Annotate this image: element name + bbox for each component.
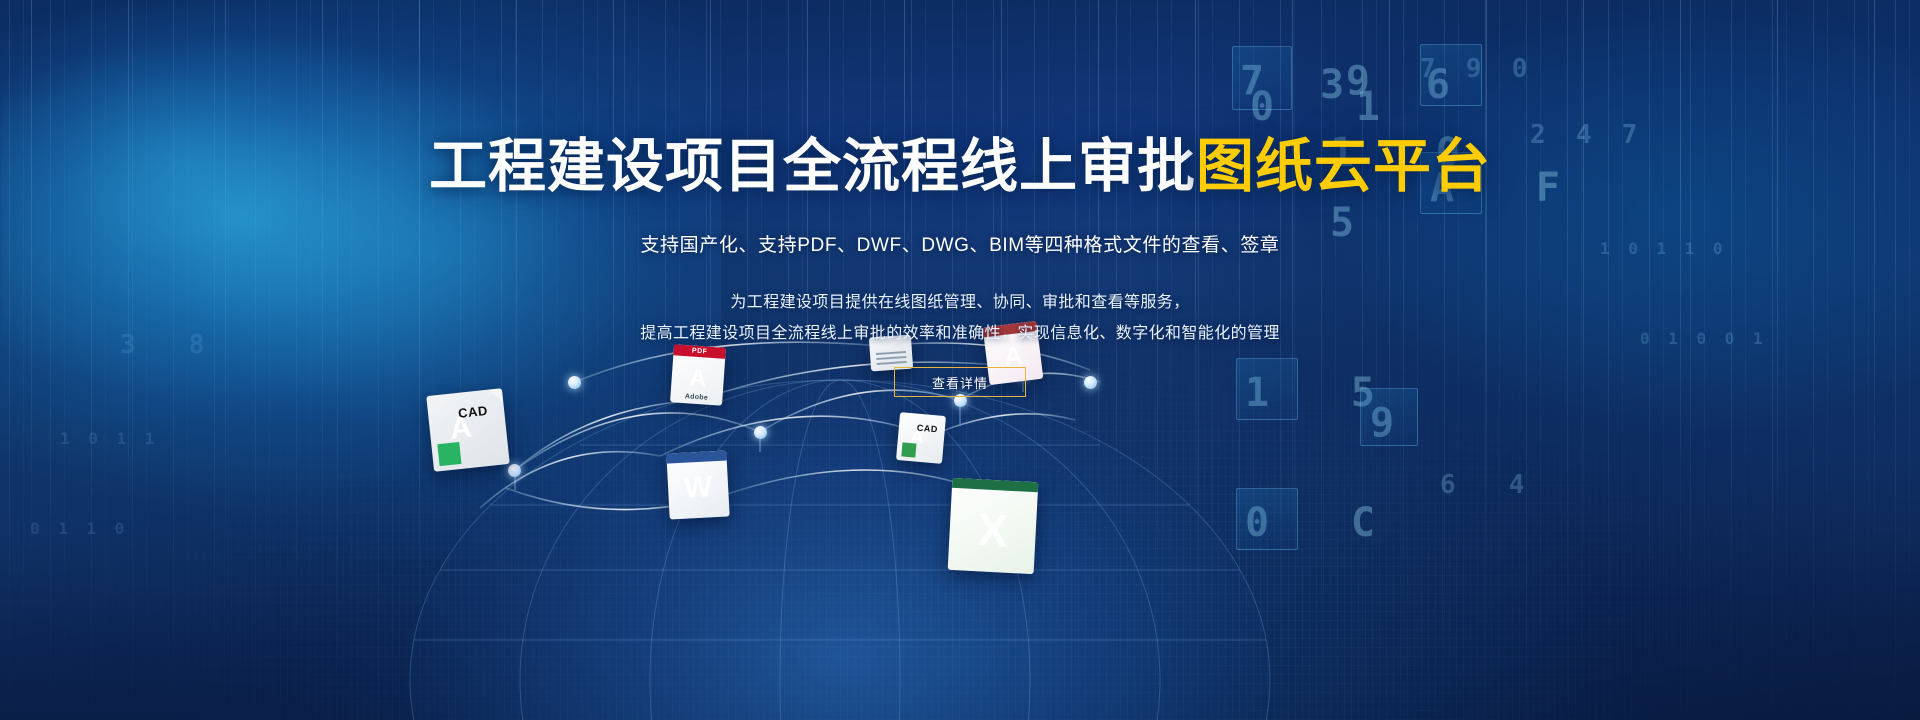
subtitle: 支持国产化、支持PDF、DWF、DWG、BIM等四种格式文件的查看、签章 bbox=[640, 230, 1279, 257]
hero-banner: 7 9 3 6 0 1 7 9 0 1 0 A F 5 2 4 7 1 5 9 … bbox=[0, 0, 1920, 720]
page-title-primary: 工程建设项目全流程线上审批 bbox=[429, 134, 1196, 199]
description-line-2: 提高工程建设项目全流程线上审批的效率和准确性，实现信息化、数字化和智能化的管理 bbox=[640, 318, 1280, 349]
description: 为工程建设项目提供在线图纸管理、协同、审批和查看等服务， 提高工程建设项目全流程… bbox=[640, 287, 1280, 349]
view-details-button[interactable]: 查看详情 bbox=[894, 367, 1026, 397]
page-title: 工程建设项目全流程线上审批图纸云平台 bbox=[429, 138, 1491, 196]
hero-content: 工程建设项目全流程线上审批图纸云平台 支持国产化、支持PDF、DWF、DWG、B… bbox=[0, 0, 1920, 720]
description-line-1: 为工程建设项目提供在线图纸管理、协同、审批和查看等服务， bbox=[640, 287, 1280, 318]
page-title-accent: 图纸云平台 bbox=[1196, 134, 1491, 199]
